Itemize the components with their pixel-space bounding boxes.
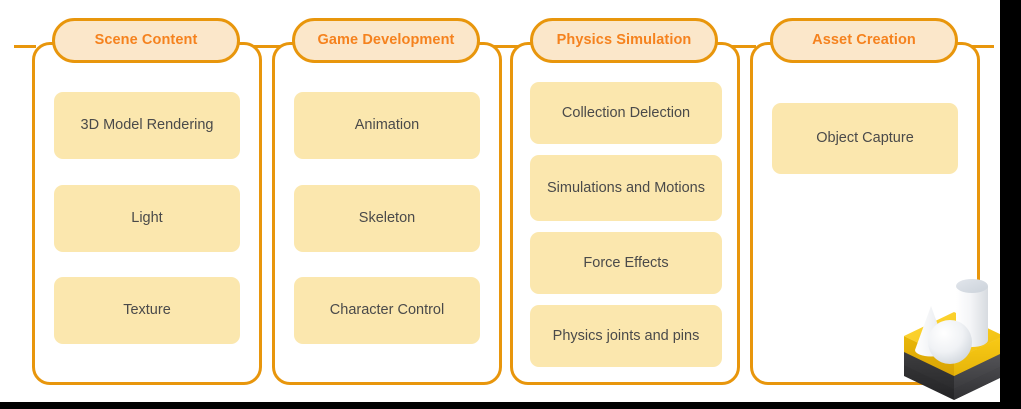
- card-label: Light: [131, 211, 162, 226]
- card-label: Animation: [355, 118, 419, 133]
- column-header-game-development[interactable]: Game Development: [292, 18, 480, 63]
- column-title-label: Scene Content: [95, 33, 198, 48]
- frame-edge-right: [1000, 0, 1021, 409]
- card-label: Collection Delection: [562, 106, 690, 121]
- connector-col0-col1: [14, 45, 36, 48]
- card-label: Object Capture: [816, 131, 914, 146]
- card-animation[interactable]: Animation: [294, 92, 480, 159]
- column-header-scene-content[interactable]: Scene Content: [52, 18, 240, 63]
- category-diagram: Scene Content 3D Model Rendering Light T…: [0, 0, 1000, 403]
- column-title-label: Game Development: [318, 33, 455, 48]
- card-simulations-and-motions[interactable]: Simulations and Motions: [530, 155, 722, 221]
- column-title-label: Physics Simulation: [557, 33, 692, 48]
- card-label: 3D Model Rendering: [81, 118, 214, 133]
- card-label: Simulations and Motions: [547, 181, 705, 196]
- card-character-control[interactable]: Character Control: [294, 277, 480, 344]
- card-label: Character Control: [330, 303, 444, 318]
- card-texture[interactable]: Texture: [54, 277, 240, 344]
- card-label: Force Effects: [583, 256, 668, 271]
- card-skeleton[interactable]: Skeleton: [294, 185, 480, 252]
- card-light[interactable]: Light: [54, 185, 240, 252]
- column-asset-creation: [750, 42, 980, 385]
- card-physics-joints-and-pins[interactable]: Physics joints and pins: [530, 305, 722, 367]
- card-label: Texture: [123, 303, 171, 318]
- card-label: Skeleton: [359, 211, 415, 226]
- card-force-effects[interactable]: Force Effects: [530, 232, 722, 294]
- column-header-asset-creation[interactable]: Asset Creation: [770, 18, 958, 63]
- card-collection-delection[interactable]: Collection Delection: [530, 82, 722, 144]
- card-label: Physics joints and pins: [553, 329, 700, 344]
- card-3d-model-rendering[interactable]: 3D Model Rendering: [54, 92, 240, 159]
- frame-edge-bottom: [0, 402, 1021, 409]
- column-title-label: Asset Creation: [812, 33, 916, 48]
- card-object-capture[interactable]: Object Capture: [772, 103, 958, 174]
- column-header-physics-simulation[interactable]: Physics Simulation: [530, 18, 718, 63]
- screenshot-stage: Scene Content 3D Model Rendering Light T…: [0, 0, 1021, 409]
